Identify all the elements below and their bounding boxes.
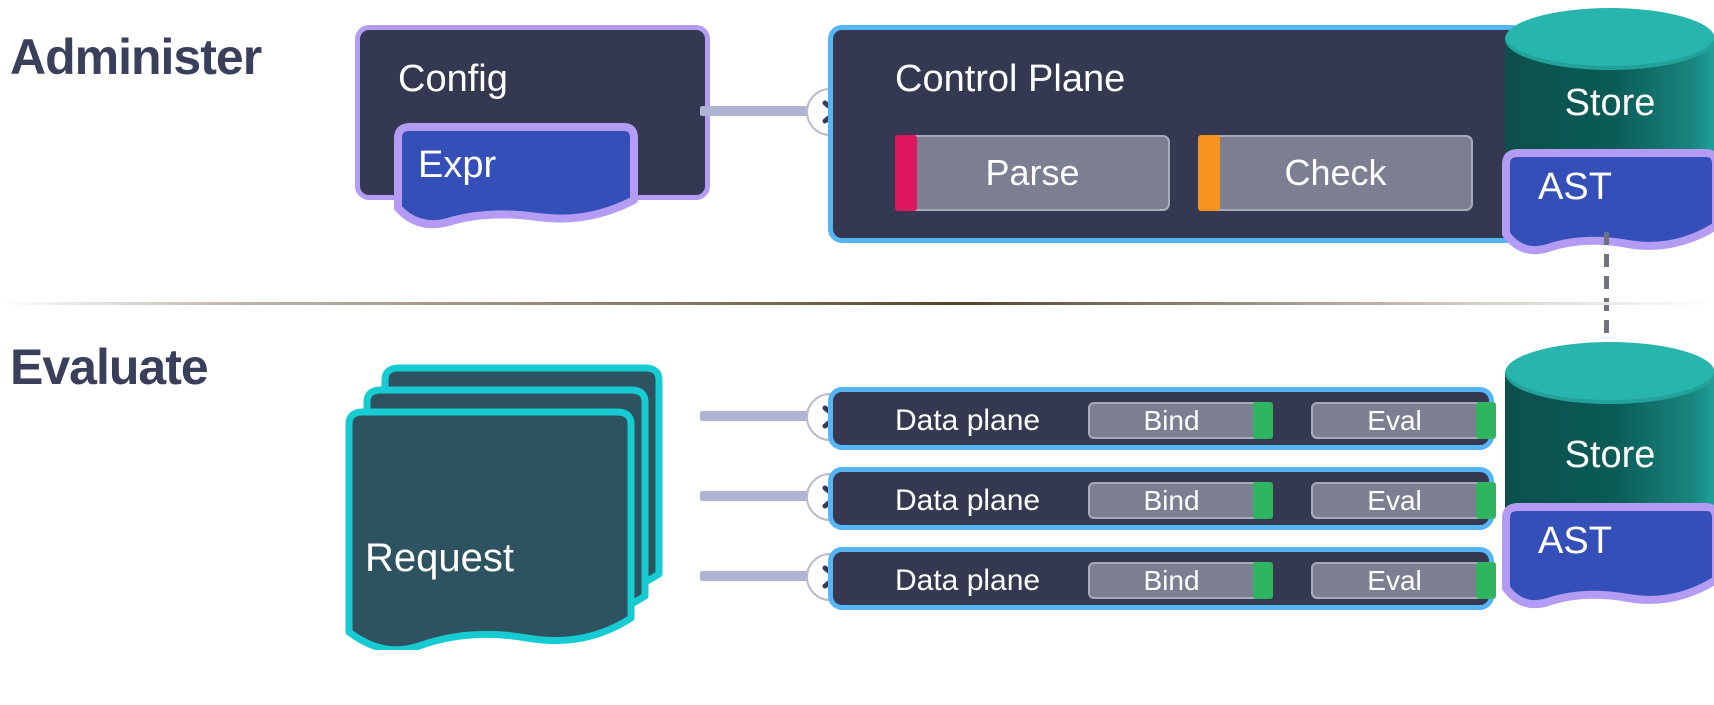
stage-chip-bind-3[interactable]: Bind [1088,562,1273,599]
data-plane-row-2: Data plane Bind Eval [828,467,1494,530]
stage-accent-bind-3 [1253,562,1273,599]
data-plane-row-1-title: Data plane [895,404,1040,438]
request-stack: Request [345,358,705,650]
stage-accent-eval-3 [1476,562,1496,599]
data-plane-row-3-title: Data plane [895,564,1040,598]
stage-chip-eval-3-label: Eval [1367,565,1421,597]
config-panel-title: Config [398,58,508,101]
cylinder-top-ellipse [1505,8,1714,70]
stage-chip-parse-label: Parse [985,152,1079,194]
expr-document: Expr [388,122,644,230]
data-plane-row-3: Data plane Bind Eval [828,547,1494,610]
request-stack-shape [345,358,705,650]
request-stack-label: Request [365,536,514,581]
control-plane-panel: Control Plane Parse Check [828,25,1526,243]
section-label-administer: Administer [10,28,261,86]
stage-chip-bind-1-label: Bind [1143,405,1199,437]
stage-chip-eval-1[interactable]: Eval [1311,402,1496,439]
stage-accent-parse [895,135,917,211]
stage-accent-eval-1 [1476,402,1496,439]
stage-chip-parse[interactable]: Parse [895,135,1170,211]
stage-chip-bind-3-label: Bind [1143,565,1199,597]
request-card-front [349,412,631,650]
stage-chip-bind-1[interactable]: Bind [1088,402,1273,439]
stage-chip-eval-2[interactable]: Eval [1311,482,1496,519]
store-cylinder-administer-label: Store [1505,82,1714,125]
dashed-connector-ast-to-store [1604,228,1609,346]
stage-chip-check[interactable]: Check [1198,135,1473,211]
stage-chip-bind-2-label: Bind [1143,485,1199,517]
ast-document-evaluate-label: AST [1538,520,1612,563]
stage-chip-eval-2-label: Eval [1367,485,1421,517]
section-label-evaluate: Evaluate [10,338,208,396]
stage-accent-check [1198,135,1220,211]
ast-document-administer-label: AST [1538,166,1612,209]
data-plane-row-1: Data plane Bind Eval [828,387,1494,450]
expr-document-label: Expr [418,144,496,187]
stage-chip-eval-1-label: Eval [1367,405,1421,437]
store-cylinder-evaluate-label: Store [1505,434,1714,477]
stage-chip-check-label: Check [1284,152,1386,194]
data-plane-row-2-title: Data plane [895,484,1040,518]
stage-chip-bind-2[interactable]: Bind [1088,482,1273,519]
section-divider [0,302,1714,305]
stage-chip-eval-3[interactable]: Eval [1311,562,1496,599]
diagram-canvas: Administer Config Expr Control Plane Par… [0,0,1714,705]
ast-document-evaluate: AST [1498,502,1714,614]
cylinder-top-ellipse [1505,342,1714,404]
stage-accent-eval-2 [1476,482,1496,519]
control-plane-title: Control Plane [895,58,1125,101]
stage-accent-bind-1 [1253,402,1273,439]
stage-accent-bind-2 [1253,482,1273,519]
